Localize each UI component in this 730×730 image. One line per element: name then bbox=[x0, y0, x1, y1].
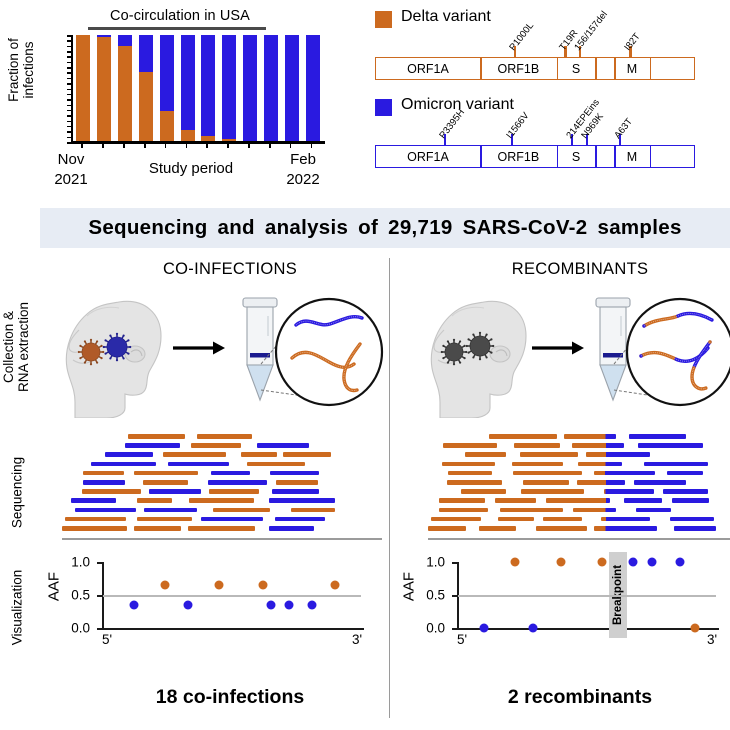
sequencing-read bbox=[291, 508, 335, 513]
gene-label-m: M bbox=[614, 146, 649, 169]
sequencing-read bbox=[479, 526, 516, 531]
aaf-data-point bbox=[479, 624, 488, 633]
summary-banner: Sequencing and analysis of 29,719 SARS-C… bbox=[40, 208, 730, 248]
bar-chart-y-tick bbox=[67, 35, 71, 37]
bar-chart-y-tick bbox=[67, 72, 71, 74]
bar-chart-x-tick bbox=[81, 143, 83, 148]
bar-segment-omicron bbox=[306, 35, 320, 141]
mutation-label: I82T bbox=[623, 31, 643, 53]
aaf-data-point bbox=[160, 581, 169, 590]
sequencing-read bbox=[447, 480, 502, 485]
bar-chart-y-tick bbox=[67, 56, 71, 58]
reads-baseline bbox=[62, 538, 382, 540]
aaf-y-tick-label: 1.0 bbox=[71, 555, 90, 570]
sequencing-read bbox=[137, 517, 193, 522]
bar-chart-y-tick bbox=[67, 89, 71, 91]
aaf-y-tick-label: 1.0 bbox=[426, 555, 445, 570]
sequencing-read-chimeric bbox=[604, 489, 654, 494]
aaf-reference-line bbox=[103, 595, 361, 597]
bar-chart-plot-area bbox=[73, 35, 323, 141]
sequencing-read bbox=[523, 480, 569, 485]
gene-divider bbox=[595, 146, 597, 167]
bar-segment-omicron bbox=[118, 35, 132, 46]
bar-chart-y-tick bbox=[67, 83, 71, 85]
aaf-y-tick: 0.5 bbox=[97, 595, 102, 597]
aaf-data-point bbox=[258, 581, 267, 590]
bar-chart-y-tick bbox=[67, 78, 71, 80]
aaf-three-prime-label: 3' bbox=[352, 632, 362, 647]
bar-chart-x-axis bbox=[71, 141, 325, 144]
sequencing-read bbox=[163, 452, 226, 457]
sequencing-read bbox=[442, 462, 495, 467]
bar-chart-y-tick bbox=[67, 110, 71, 112]
sequencing-read bbox=[75, 508, 136, 513]
sequencing-read bbox=[134, 471, 198, 476]
sequencing-read bbox=[125, 443, 180, 448]
sequencing-read bbox=[674, 526, 715, 531]
sequencing-read bbox=[638, 443, 704, 448]
sequencing-read bbox=[663, 489, 708, 494]
sample-tube bbox=[596, 298, 630, 400]
sequencing-read bbox=[189, 498, 254, 503]
bar-segment-omicron bbox=[97, 35, 111, 37]
bar-chart-x-tick bbox=[102, 143, 104, 148]
sequencing-read-chimeric bbox=[573, 508, 617, 513]
aaf-data-point bbox=[691, 624, 700, 633]
bar-chart-bar bbox=[181, 35, 195, 141]
column-header-recombinants: RECOMBINANTS bbox=[440, 260, 720, 279]
bar-chart-x-tick bbox=[186, 143, 188, 148]
bar-segment-delta bbox=[97, 37, 111, 141]
sequencing-read-chimeric bbox=[546, 498, 609, 503]
sequencing-read bbox=[149, 489, 202, 494]
sequencing-read bbox=[489, 434, 557, 439]
gene-divider bbox=[650, 58, 652, 79]
bar-segment-omicron bbox=[243, 35, 257, 141]
aaf-y-tick-label: 0.0 bbox=[71, 621, 90, 636]
aaf-plot-co-infections: AAF 1.00.50.0 5' 3' bbox=[45, 552, 385, 664]
sequencing-read-chimeric bbox=[601, 517, 650, 522]
bar-chart-y-tick bbox=[67, 94, 71, 96]
sequencing-read bbox=[439, 498, 485, 503]
bar-chart-bar bbox=[97, 35, 111, 141]
gene-divider bbox=[595, 58, 597, 79]
bar-chart-x-tick bbox=[290, 143, 292, 148]
sequencing-read bbox=[636, 508, 671, 513]
aaf-data-point bbox=[675, 558, 684, 567]
bar-chart-bar bbox=[285, 35, 299, 141]
sequencing-read bbox=[270, 471, 319, 476]
bar-chart-y-tick bbox=[67, 131, 71, 133]
bar-chart-bar bbox=[243, 35, 257, 141]
sequencing-read-chimeric bbox=[564, 434, 616, 439]
reads-baseline bbox=[428, 538, 730, 540]
column-divider bbox=[389, 258, 390, 718]
bar-segment-delta bbox=[118, 46, 132, 141]
sequencing-read bbox=[144, 508, 197, 513]
process-arrow bbox=[532, 342, 584, 355]
genome-bar: ORF1AORF1BSM bbox=[375, 57, 695, 80]
sample-tube bbox=[243, 298, 277, 400]
aaf-data-point bbox=[557, 558, 566, 567]
gene-divider bbox=[650, 146, 652, 167]
recombinant-illustration bbox=[420, 284, 730, 418]
bar-segment-omicron bbox=[201, 35, 215, 136]
sequencing-read bbox=[443, 443, 497, 448]
variant-genome-maps: Delta variantORF1AORF1BSMP1000LT19R156/1… bbox=[365, 0, 730, 200]
magnifier-circle bbox=[276, 299, 382, 405]
aaf-y-axis-label: AAF bbox=[46, 564, 63, 610]
sequencing-read bbox=[91, 462, 156, 467]
column-header-co-infections: CO-INFECTIONS bbox=[90, 260, 370, 279]
sequencing-read bbox=[461, 489, 506, 494]
sequencing-read bbox=[201, 517, 263, 522]
patient-head bbox=[66, 301, 161, 418]
sequencing-read bbox=[211, 471, 250, 476]
bar-segment-delta bbox=[76, 35, 90, 141]
sequencing-read bbox=[536, 526, 587, 531]
gene-label-orf1a: ORF1A bbox=[376, 58, 480, 81]
x-label-start: Nov 2021 bbox=[40, 150, 102, 190]
sequencing-read bbox=[105, 452, 153, 457]
bar-chart-bar bbox=[160, 35, 174, 141]
sequencing-read bbox=[629, 434, 686, 439]
bar-chart-y-tick bbox=[67, 51, 71, 53]
bar-segment-delta bbox=[139, 72, 153, 141]
sequencing-read bbox=[191, 443, 241, 448]
bar-chart-x-tick bbox=[248, 143, 250, 148]
sequencing-read bbox=[431, 517, 482, 522]
legend-label: Delta variant bbox=[401, 8, 491, 26]
sequencing-read-chimeric bbox=[572, 443, 624, 448]
bar-chart-x-tick bbox=[123, 143, 125, 148]
bar-chart-x-tick bbox=[269, 143, 271, 148]
bar-chart-y-tick bbox=[67, 121, 71, 123]
patient-head bbox=[431, 301, 526, 418]
sequencing-read bbox=[520, 452, 579, 457]
aaf-data-point bbox=[528, 624, 537, 633]
bar-segment-delta bbox=[201, 136, 215, 141]
bar-chart-x-tick bbox=[165, 143, 167, 148]
bar-chart-x-tick bbox=[227, 143, 229, 148]
aaf-data-point bbox=[184, 600, 193, 609]
legend-color-swatch bbox=[375, 99, 392, 116]
sequencing-read bbox=[513, 471, 583, 476]
genome-bar: ORF1AORF1BSM bbox=[375, 145, 695, 168]
bar-chart-y-tick bbox=[67, 40, 71, 42]
sequencing-read bbox=[83, 480, 124, 485]
sequencing-read-chimeric bbox=[577, 480, 625, 485]
bar-segment-omicron bbox=[160, 35, 174, 111]
illustration-co-infection bbox=[55, 284, 385, 418]
aaf-data-point bbox=[647, 558, 656, 567]
sequencing-read bbox=[241, 452, 277, 457]
bar-segment-omicron bbox=[264, 35, 278, 141]
sequencing-read bbox=[257, 443, 309, 448]
bar-segment-delta bbox=[222, 139, 236, 141]
aaf-y-tick: 1.0 bbox=[452, 562, 457, 564]
bar-chart-title: Co-circulation in USA bbox=[80, 8, 280, 24]
sequencing-read bbox=[672, 498, 709, 503]
bar-chart-bar bbox=[76, 35, 90, 141]
sequencing-read bbox=[439, 508, 488, 513]
sequencing-read bbox=[134, 526, 181, 531]
sequencing-read bbox=[512, 462, 563, 467]
sequencing-read bbox=[128, 434, 185, 439]
x-label-end-month: Feb bbox=[290, 151, 316, 168]
sequencing-read bbox=[276, 480, 318, 485]
sequencing-read bbox=[247, 462, 305, 467]
bar-chart-bar bbox=[306, 35, 320, 141]
bar-chart-y-tick bbox=[67, 67, 71, 69]
sequencing-read bbox=[168, 462, 229, 467]
bar-chart-y-tick bbox=[67, 99, 71, 101]
sequencing-read bbox=[500, 508, 563, 513]
aaf-data-point bbox=[629, 558, 638, 567]
sequencing-read bbox=[465, 452, 507, 457]
aaf-data-point bbox=[331, 581, 340, 590]
sequencing-read bbox=[448, 471, 492, 476]
aaf-plot-area: Breakpoint bbox=[458, 562, 716, 628]
bar-segment-omicron bbox=[222, 35, 236, 139]
sequencing-read bbox=[644, 462, 709, 467]
bar-chart-y-axis-label: Fraction ofinfections bbox=[6, 15, 36, 125]
sequencing-read bbox=[428, 526, 466, 531]
aaf-data-point bbox=[510, 558, 519, 567]
aaf-data-point bbox=[307, 600, 316, 609]
co-circulation-bar-chart: Co-circulation in USA Fraction ofinfecti… bbox=[0, 0, 360, 200]
sequencing-read bbox=[283, 452, 331, 457]
sequencing-read bbox=[137, 498, 172, 503]
bar-chart-bar bbox=[222, 35, 236, 141]
footer-co-infections-count: 18 co-infections bbox=[80, 686, 380, 709]
sequencing-read bbox=[634, 480, 686, 485]
aaf-data-point bbox=[266, 600, 275, 609]
sequencing-read bbox=[62, 526, 127, 531]
sequencing-read bbox=[213, 508, 270, 513]
aaf-reference-line bbox=[458, 595, 716, 597]
row-label-visualization: Visualization bbox=[10, 558, 25, 658]
sequencing-read bbox=[498, 517, 534, 522]
process-arrow bbox=[173, 342, 225, 355]
sequencing-read bbox=[495, 498, 536, 503]
sequencing-read bbox=[269, 498, 335, 503]
sequencing-reads-co-infections bbox=[62, 428, 382, 540]
sequencing-read bbox=[65, 517, 126, 522]
sequencing-read bbox=[275, 517, 325, 522]
bar-segment-omicron bbox=[139, 35, 153, 72]
bar-chart-bar bbox=[264, 35, 278, 141]
bar-chart-y-tick bbox=[67, 137, 71, 139]
row-label-sequencing: Sequencing bbox=[10, 443, 25, 543]
sequencing-read-chimeric bbox=[586, 452, 650, 457]
gene-label-s: S bbox=[557, 146, 595, 169]
bar-chart-bar bbox=[118, 35, 132, 141]
co-infection-illustration bbox=[55, 284, 385, 418]
gene-label-orf1b: ORF1B bbox=[480, 58, 557, 81]
bar-chart-y-tick bbox=[67, 115, 71, 117]
sequencing-read bbox=[82, 489, 141, 494]
aaf-y-tick-label: 0.5 bbox=[71, 588, 90, 603]
bar-chart-y-tick bbox=[67, 62, 71, 64]
sequencing-read bbox=[269, 526, 314, 531]
footer-recombinants-count: 2 recombinants bbox=[430, 686, 730, 709]
bar-chart-x-tick bbox=[144, 143, 146, 148]
bar-segment-delta bbox=[181, 130, 195, 141]
sequencing-reads-recombinants bbox=[428, 428, 730, 540]
sequencing-read bbox=[670, 517, 713, 522]
bar-segment-delta bbox=[160, 111, 174, 141]
legend-color-swatch bbox=[375, 11, 392, 28]
aaf-three-prime-label: 3' bbox=[707, 632, 717, 647]
aaf-y-tick-label: 0.0 bbox=[426, 621, 445, 636]
aaf-plot-recombinants: AAF 1.00.50.0 Breakpoint 5' 3' bbox=[400, 552, 730, 664]
x-label-end: Feb 2022 bbox=[272, 150, 334, 190]
aaf-five-prime-label: 5' bbox=[457, 632, 467, 647]
summary-banner-text: Sequencing and analysis of 29,719 SARS-C… bbox=[40, 208, 730, 248]
sequencing-read bbox=[521, 489, 584, 494]
sequencing-read bbox=[209, 489, 260, 494]
aaf-x-axis bbox=[457, 628, 719, 630]
gene-label-orf1b: ORF1B bbox=[480, 146, 557, 169]
gene-label-m: M bbox=[614, 58, 649, 81]
aaf-y-axis-label: AAF bbox=[401, 564, 418, 610]
sequencing-read-chimeric bbox=[594, 471, 655, 476]
row-label-collection: Collection &RNA extraction bbox=[1, 293, 31, 401]
bar-segment-omicron bbox=[285, 35, 299, 141]
aaf-y-tick: 1.0 bbox=[97, 562, 102, 564]
aaf-five-prime-label: 5' bbox=[102, 632, 112, 647]
sequencing-read bbox=[208, 480, 266, 485]
sequencing-read-chimeric bbox=[578, 462, 622, 467]
sequencing-read bbox=[514, 443, 560, 448]
x-label-end-year: 2022 bbox=[286, 171, 319, 188]
aaf-plot-area bbox=[103, 562, 361, 628]
sequencing-read-chimeric bbox=[594, 526, 657, 531]
sequencing-read bbox=[197, 434, 253, 439]
aaf-data-point bbox=[284, 600, 293, 609]
illustration-recombinant bbox=[420, 284, 730, 418]
bar-chart-bar bbox=[139, 35, 153, 141]
bar-chart-title-rule bbox=[88, 27, 266, 30]
x-axis-title: Study period bbox=[126, 160, 256, 177]
mutation-label: A63T bbox=[612, 116, 635, 141]
aaf-data-point bbox=[129, 600, 138, 609]
gene-label-s: S bbox=[557, 58, 595, 81]
bar-chart-x-labels: Nov 2021 Study period Feb 2022 bbox=[40, 150, 340, 194]
gene-label-orf1a: ORF1A bbox=[376, 146, 480, 169]
bar-chart-y-tick bbox=[67, 126, 71, 128]
aaf-data-point bbox=[598, 558, 607, 567]
x-label-start-year: 2021 bbox=[54, 171, 87, 188]
bar-segment-omicron bbox=[181, 35, 195, 130]
sequencing-read bbox=[624, 498, 662, 503]
bar-chart-x-tick bbox=[206, 143, 208, 148]
sequencing-read bbox=[543, 517, 582, 522]
sequencing-read bbox=[188, 526, 255, 531]
aaf-x-axis bbox=[102, 628, 364, 630]
bar-chart-y-tick bbox=[67, 105, 71, 107]
x-label-start-month: Nov bbox=[58, 151, 85, 168]
sequencing-read bbox=[83, 471, 125, 476]
aaf-y-tick-label: 0.5 bbox=[426, 588, 445, 603]
bar-chart-y-tick bbox=[67, 46, 71, 48]
sequencing-read bbox=[272, 489, 319, 494]
sequencing-read bbox=[143, 480, 188, 485]
bar-chart-x-tick bbox=[311, 143, 313, 148]
aaf-y-tick: 0.5 bbox=[452, 595, 457, 597]
sequencing-read bbox=[71, 498, 116, 503]
aaf-data-point bbox=[215, 581, 224, 590]
bar-chart-bar bbox=[201, 35, 215, 141]
sequencing-read bbox=[667, 471, 703, 476]
